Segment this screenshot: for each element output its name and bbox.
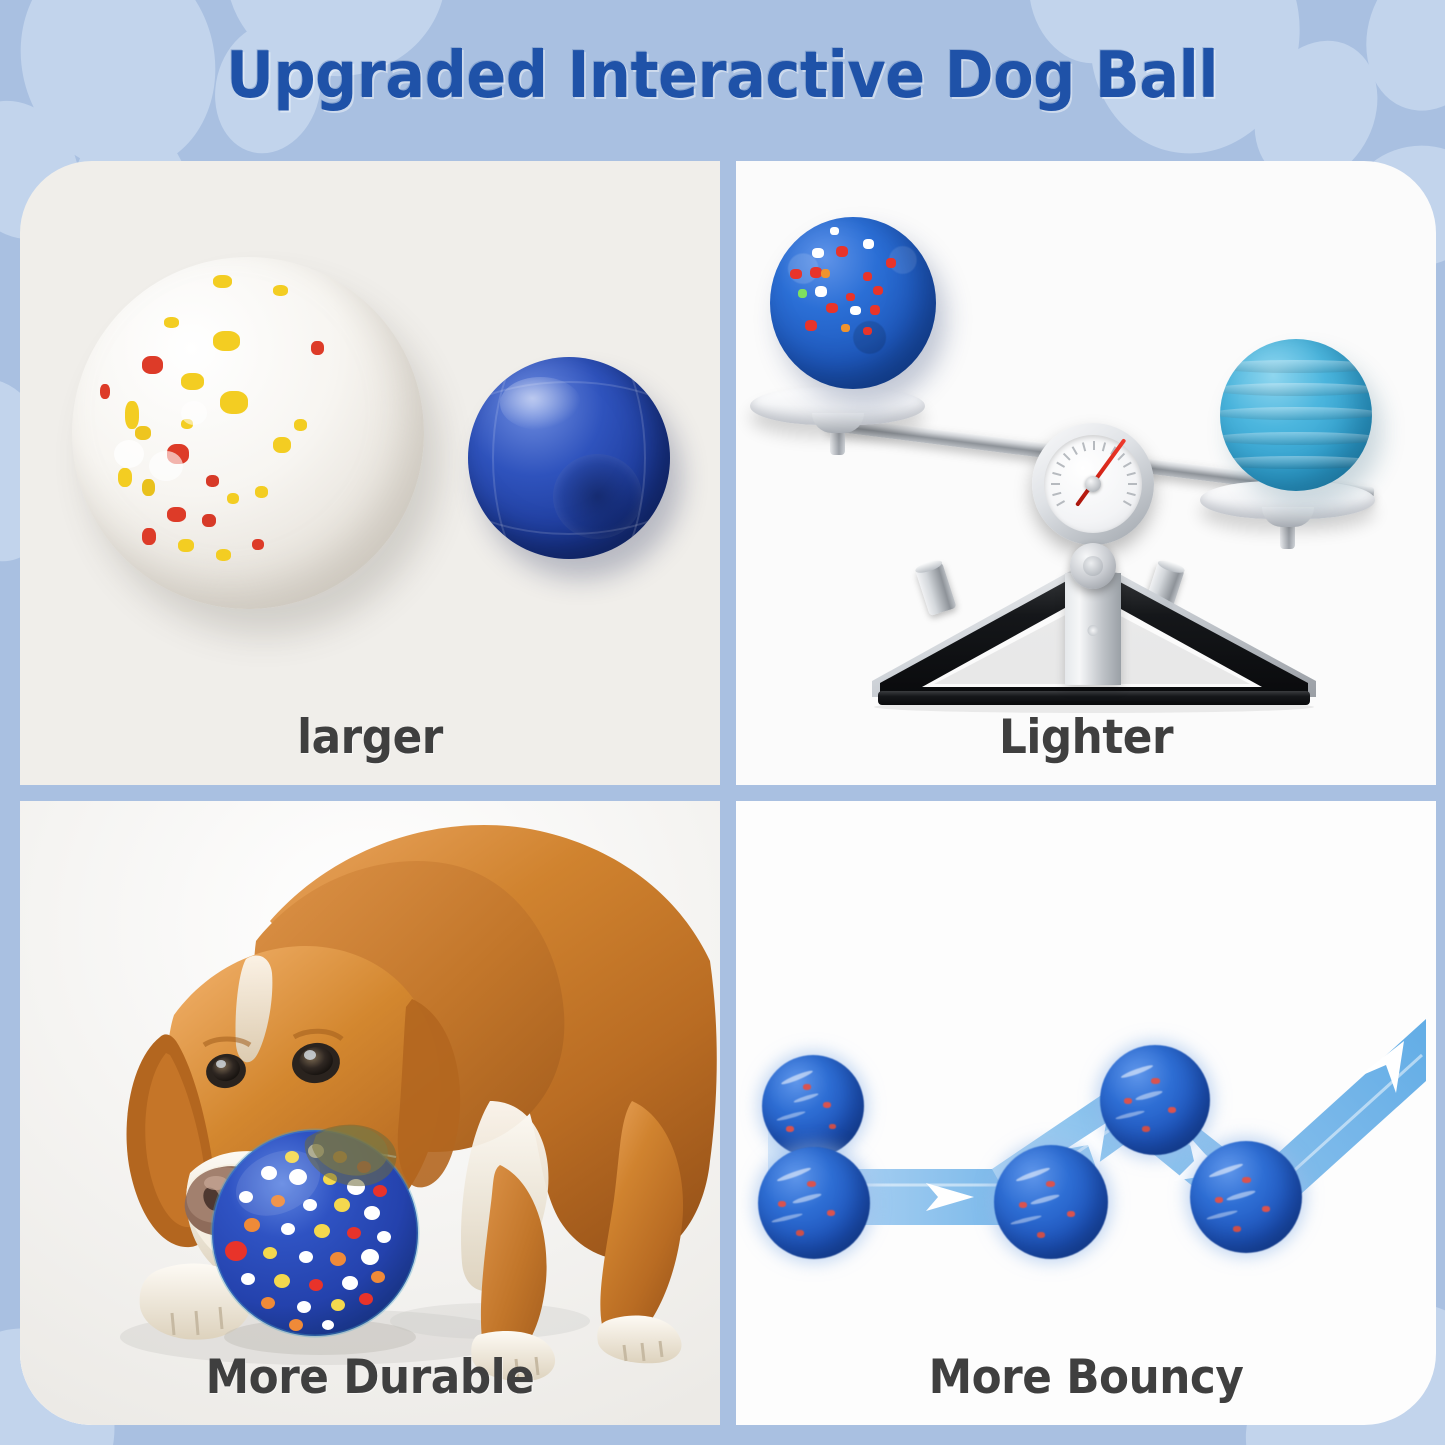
feature-panel-grid: larger (20, 161, 1425, 1425)
bouncing-ball (1100, 1045, 1210, 1155)
scale-gauge (1032, 423, 1154, 545)
golden-retriever-dog (20, 801, 720, 1425)
gauge-needle-hub (1085, 476, 1101, 492)
durable-photo-stage (20, 801, 720, 1425)
panel-lighter[interactable]: Lighter (736, 161, 1436, 785)
panel-bouncy[interactable]: More Bouncy (736, 801, 1436, 1425)
cyan-ridged-rubber-ball (1220, 339, 1372, 491)
balance-scale-illustration (736, 161, 1436, 785)
header-title-bar: Upgraded Interactive Dog Ball (0, 0, 1445, 152)
foam-ball-speckles (72, 257, 424, 609)
small-blue-plastic-ball (468, 357, 670, 559)
blue-speckled-foam-ball (770, 217, 936, 389)
ball-dimple (553, 454, 642, 539)
panel-durable[interactable]: More Durable (20, 801, 720, 1425)
panel-durable-label: More Durable (45, 1350, 696, 1405)
panel-lighter-label: Lighter (761, 710, 1412, 765)
panel-bouncy-label: More Bouncy (761, 1350, 1412, 1405)
bounce-trajectory-diagram (736, 801, 1436, 1425)
scale-pillar (1065, 573, 1121, 685)
bouncing-ball (994, 1145, 1108, 1259)
large-white-foam-ball (72, 257, 424, 609)
bouncing-ball (1190, 1141, 1302, 1253)
page-title: Upgraded Interactive Dog Ball (227, 39, 1219, 113)
scale-pan-left (750, 387, 925, 425)
bouncing-ball (758, 1147, 870, 1259)
gauge-face (1044, 435, 1142, 533)
panel-larger-label: larger (45, 710, 696, 765)
ball-highlight (500, 377, 581, 430)
larger-photo-stage (20, 161, 720, 785)
scale-pivot (1070, 543, 1116, 589)
panel-larger[interactable]: larger (20, 161, 720, 785)
bouncing-ball (762, 1055, 864, 1157)
